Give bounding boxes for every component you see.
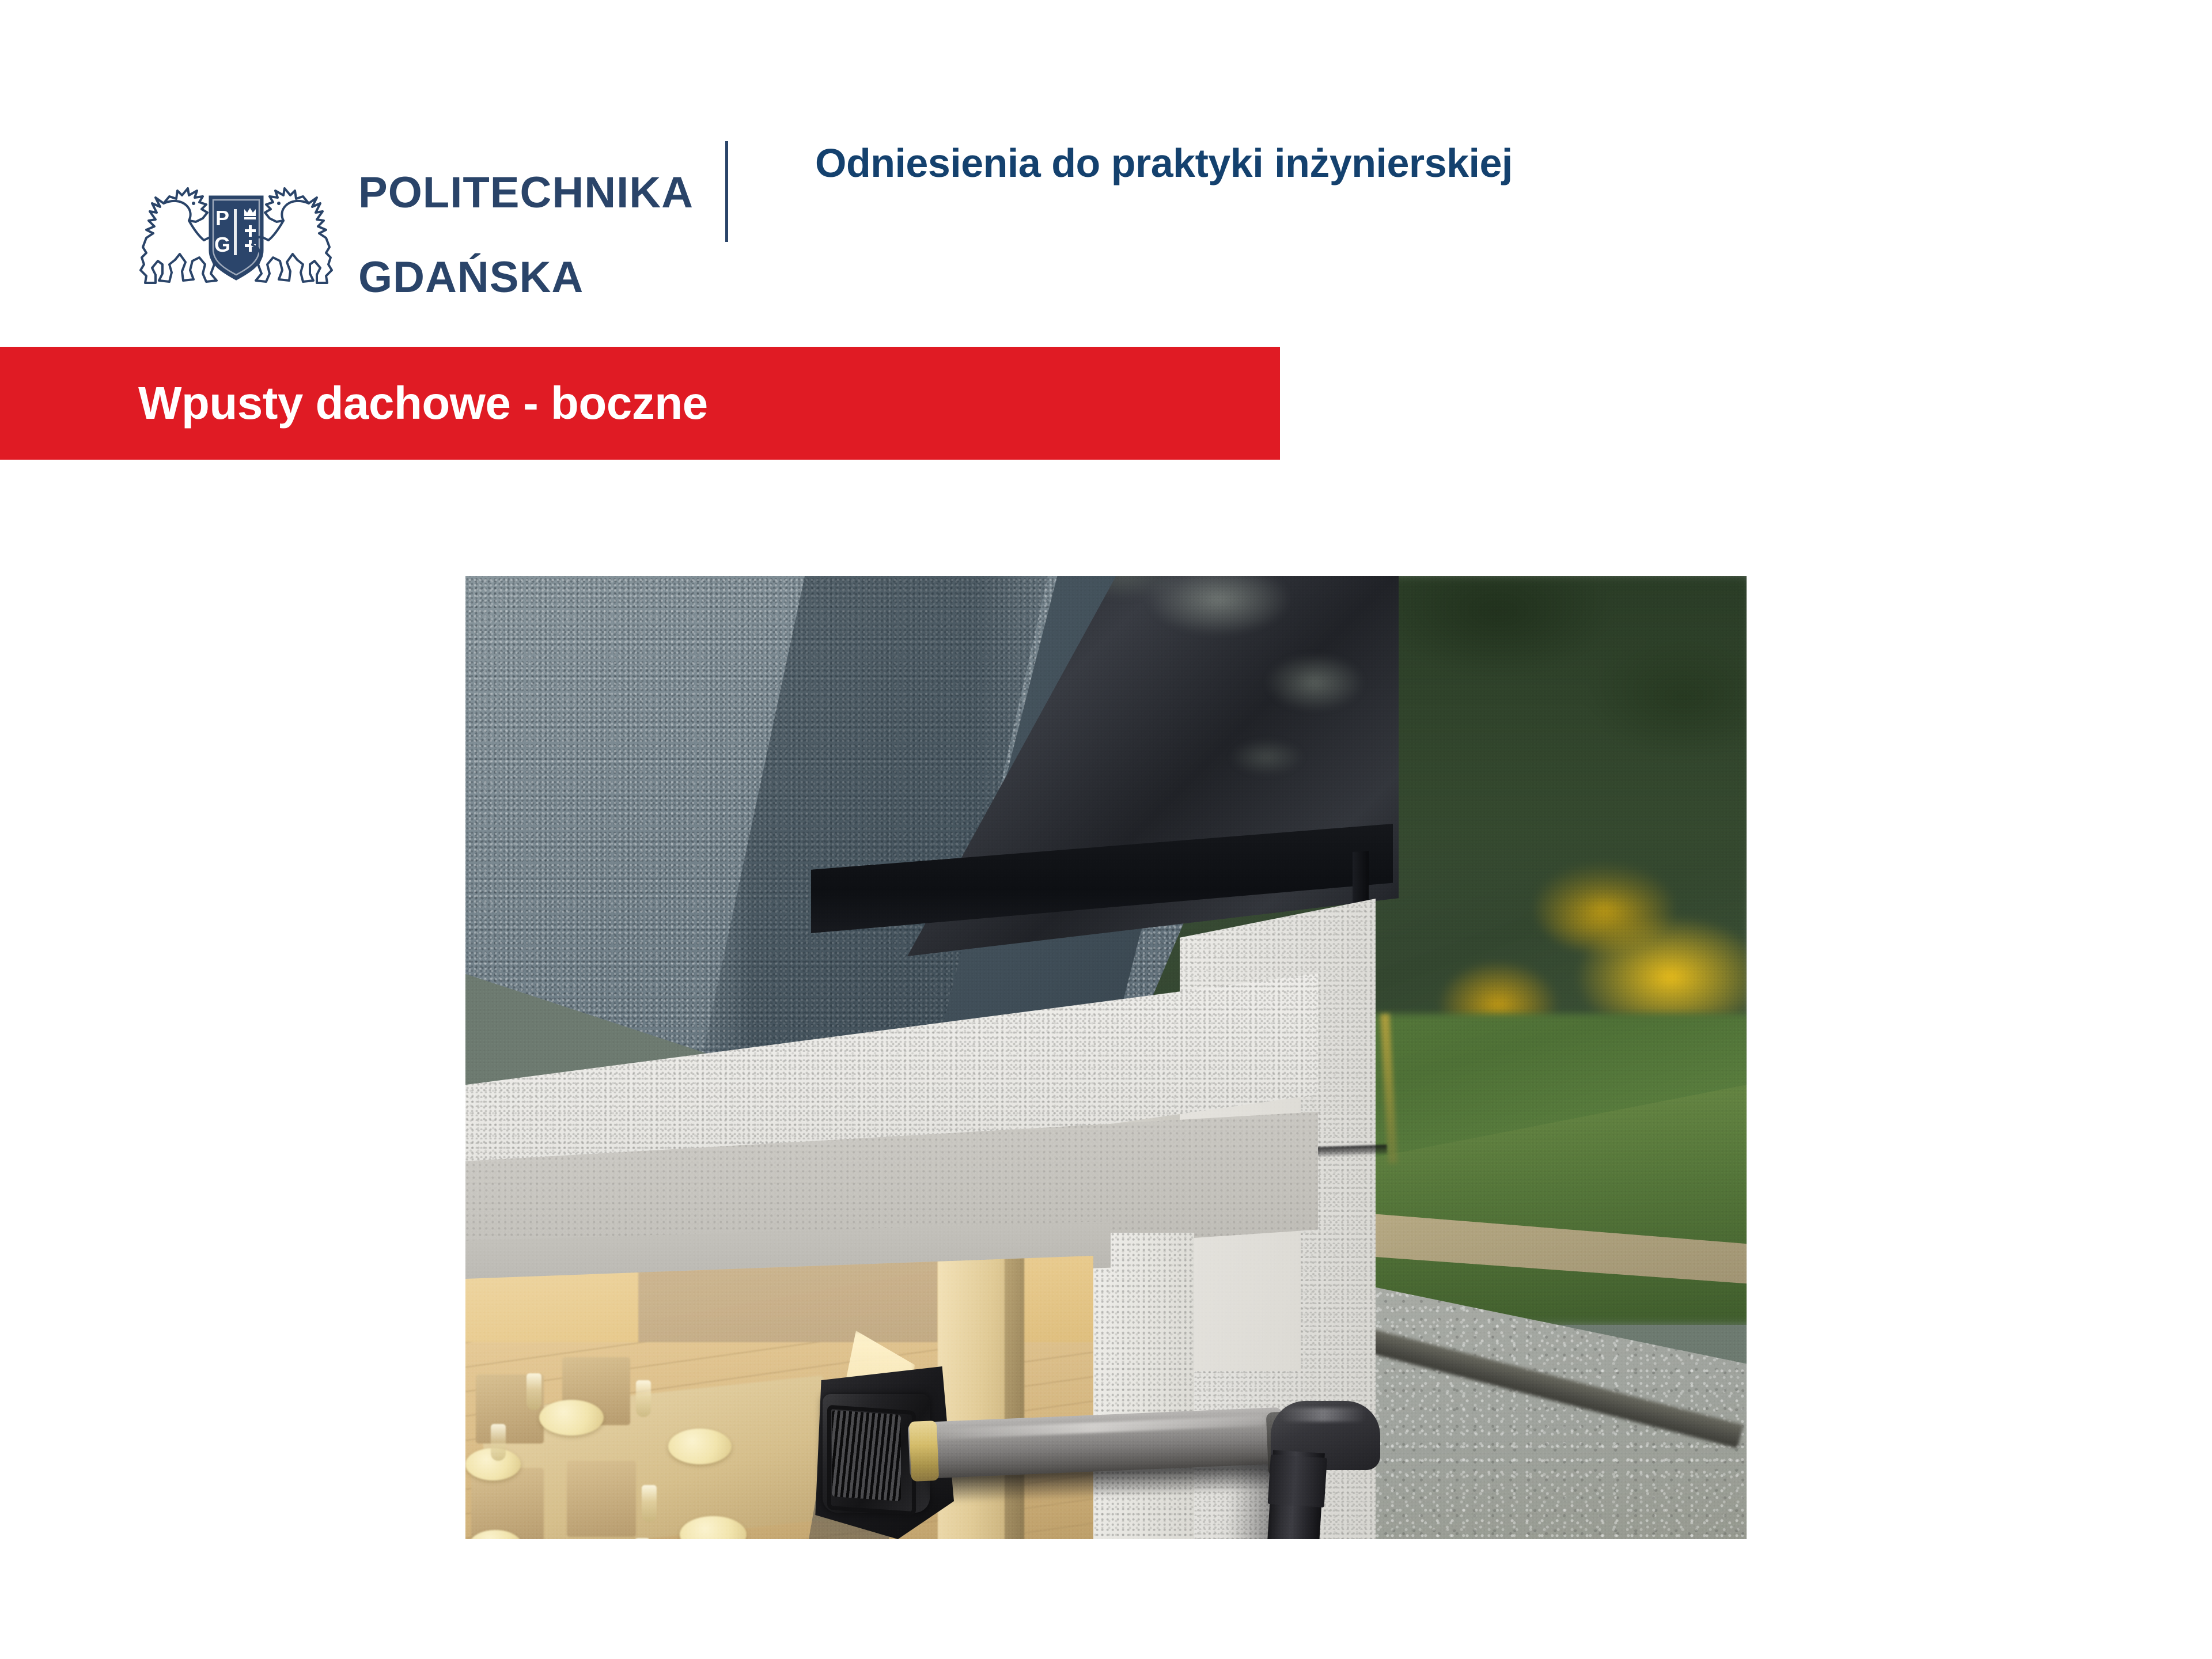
header-divider bbox=[725, 141, 728, 242]
downpipe-elbow-highlight bbox=[1280, 1408, 1366, 1422]
dining-chair bbox=[567, 1461, 636, 1537]
wine-glass bbox=[636, 1380, 651, 1417]
downpipe-socket-sleeve bbox=[1268, 1455, 1327, 1508]
architectural-render-image bbox=[465, 576, 1747, 1539]
brass-sealing-ring bbox=[909, 1421, 939, 1482]
slide-root: P G bbox=[0, 0, 2212, 1659]
crest-letter-p: P bbox=[215, 206, 229, 230]
wine-glass bbox=[642, 1485, 657, 1522]
wine-glass bbox=[635, 1538, 650, 1539]
institution-wordmark: POLITECHNIKA GDAŃSKA bbox=[358, 130, 694, 340]
figure-roof-drain-photo bbox=[465, 576, 1747, 1539]
slide-header: P G bbox=[0, 0, 2212, 276]
dinner-plate bbox=[668, 1429, 732, 1464]
slide-title-banner: Wpusty dachowe - boczne bbox=[0, 347, 1280, 460]
slide-title: Wpusty dachowe - boczne bbox=[138, 377, 708, 430]
pg-crest-icon: P G bbox=[127, 180, 346, 290]
wine-glass bbox=[527, 1373, 541, 1410]
header-subtitle: Odniesienia do praktyki inżynierskiej bbox=[815, 140, 1513, 186]
crest-pale-bar bbox=[234, 209, 237, 255]
institution-name-line1: POLITECHNIKA bbox=[358, 172, 694, 214]
wine-glass bbox=[491, 1424, 506, 1461]
crest-letter-g: G bbox=[214, 233, 230, 256]
drain-grate-frame bbox=[827, 1405, 916, 1516]
dinner-plate bbox=[539, 1400, 604, 1435]
institution-name-line2: GDAŃSKA bbox=[358, 256, 694, 299]
institution-logo-lockup: P G bbox=[127, 130, 694, 340]
